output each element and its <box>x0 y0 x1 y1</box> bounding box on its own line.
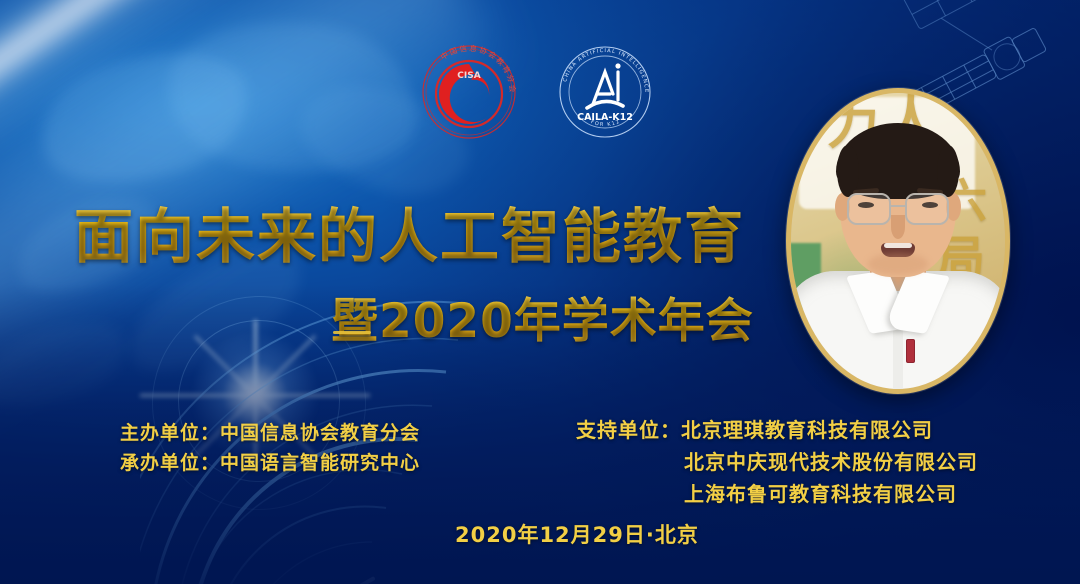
cisa-logo: 中国信息协会教育分会 CISA <box>419 42 519 142</box>
caila-k12-logo: CHINA ARTIFICIAL INTELLIGENCE LITERACY A… <box>555 42 655 142</box>
speaker-portrait: 力 人 六 局 <box>786 88 1010 394</box>
organizer-block: 主办单位：中国信息协会教育分会 承办单位：中国语言智能研究中心 <box>120 418 420 478</box>
conference-poster: 中国信息协会教育分会 CISA CHINA ARTIFICIAL INTELLI… <box>0 0 1080 584</box>
speaker-teeth <box>884 243 912 248</box>
supporter-line-1: 支持单位：北京理琪教育科技有限公司 <box>576 414 978 446</box>
eyeglasses-bridge <box>889 205 907 207</box>
poster-title: 面向未来的人工智能教育 <box>74 189 745 274</box>
shirt-pocket-badge <box>906 339 915 363</box>
supporter-line-3: 上海布鲁可教育科技有限公司 <box>576 478 978 510</box>
supporter-line-2: 北京中庆现代技术股份有限公司 <box>576 446 978 478</box>
eyeglasses-lens-left <box>847 193 891 225</box>
svg-text:CISA: CISA <box>457 71 480 81</box>
organizer-line: 主办单位：中国信息协会教育分会 <box>120 418 420 448</box>
supporter-block: 支持单位：北京理琪教育科技有限公司 北京中庆现代技术股份有限公司 上海布鲁可教育… <box>576 414 978 510</box>
subtitle-underline <box>333 331 371 334</box>
date-location: 2020年12月29日·北京 <box>455 519 699 549</box>
poster-subtitle: 暨2020年学术年会 <box>331 282 754 351</box>
co-organizer-line: 承办单位：中国语言智能研究中心 <box>120 448 420 478</box>
svg-text:CAILA-K12: CAILA-K12 <box>577 112 633 123</box>
eyeglasses-lens-right <box>905 193 949 225</box>
speaker-chin-shade <box>868 253 928 275</box>
speaker-nose <box>891 215 905 239</box>
